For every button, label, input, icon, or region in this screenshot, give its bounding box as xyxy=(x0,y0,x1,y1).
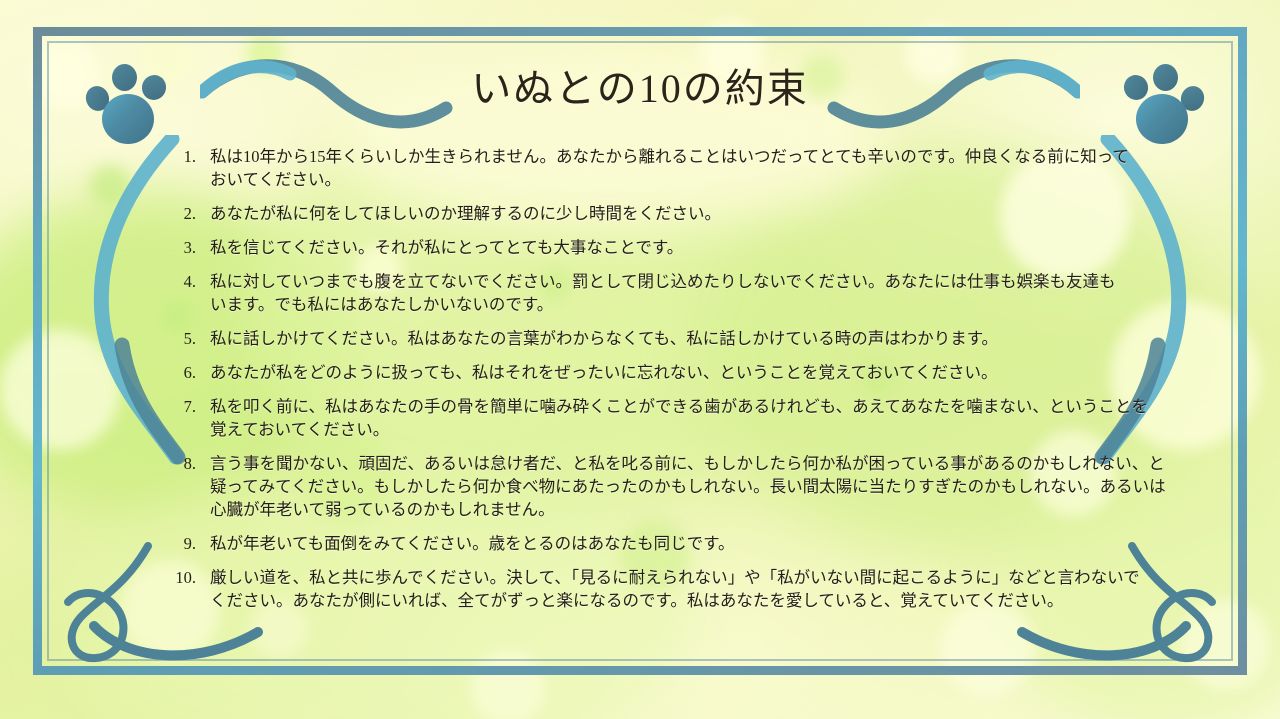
list-item-line: 言う事を聞かない、頑固だ、あるいは怠け者だ、と私を叱る前に、もしかしたら何か私が… xyxy=(210,452,1166,475)
list-item-text: 私に話しかけてください。私はあなたの言葉がわからなくても、私に話しかけている時の… xyxy=(210,327,1130,350)
list-item-number: 3. xyxy=(150,236,210,259)
list-item-number: 6. xyxy=(150,361,210,384)
list-item-line: 心臓が年老いて弱っているのかもしれません。 xyxy=(210,498,1166,521)
list-item-text: 私を叩く前に、私はあなたの手の骨を簡単に噛み砕くことができる歯があるけれども、あ… xyxy=(210,395,1148,441)
list-item-line: 疑ってみてください。もしかしたら何か食べ物にあたったのかもしれない。長い間太陽に… xyxy=(210,475,1166,498)
list-item: 10. 厳しい道を、私と共に歩んでください。決して、「見るに耐えられない」や「私… xyxy=(150,566,1130,612)
page-title: いぬとの10の約束 xyxy=(0,56,1280,114)
list-item-text: 私に対していつまでも腹を立てないでください。罰として閉じ込めたりしないでください… xyxy=(210,270,1130,316)
list-item: 9. 私が年老いても面倒をみてください。歳をとるのはあなたも同じです。 xyxy=(150,532,1130,555)
list-item-text: 言う事を聞かない、頑固だ、あるいは怠け者だ、と私を叱る前に、もしかしたら何か私が… xyxy=(210,452,1166,521)
list-item-line: あなたが私に何をしてほしいのか理解するのに少し時間をください。 xyxy=(210,202,1130,225)
list-item-line: 私を信じてください。それが私にとってとても大事なことです。 xyxy=(210,236,1130,259)
list-item-line: 私が年老いても面倒をみてください。歳をとるのはあなたも同じです。 xyxy=(210,532,1130,555)
list-item-number: 7. xyxy=(150,395,210,418)
list-item: 2. あなたが私に何をしてほしいのか理解するのに少し時間をください。 xyxy=(150,202,1130,225)
list-item-line: ください。あなたが側にいれば、全てがずっと楽になるのです。私はあなたを愛している… xyxy=(210,589,1140,612)
list-item-line: 私を叩く前に、私はあなたの手の骨を簡単に噛み砕くことができる歯があるけれども、あ… xyxy=(210,395,1148,418)
list-item-number: 9. xyxy=(150,532,210,555)
poster-canvas: いぬとの10の約束 1. 私は10年から15年くらいしか生きられません。あなたか… xyxy=(0,0,1280,719)
list-item-text: 私を信じてください。それが私にとってとても大事なことです。 xyxy=(210,236,1130,259)
list-item-line: います。でも私にはあなたしかいないのです。 xyxy=(210,293,1130,316)
promise-list: 1. 私は10年から15年くらいしか生きられません。あなたから離れることはいつだ… xyxy=(150,145,1130,623)
list-item-text: 厳しい道を、私と共に歩んでください。決して、「見るに耐えられない」や「私がいない… xyxy=(210,566,1140,612)
list-item-line: 私に話しかけてください。私はあなたの言葉がわからなくても、私に話しかけている時の… xyxy=(210,327,1130,350)
list-item-number: 4. xyxy=(150,270,210,293)
list-item: 8. 言う事を聞かない、頑固だ、あるいは怠け者だ、と私を叱る前に、もしかしたら何… xyxy=(150,452,1130,521)
list-item-text: 私は10年から15年くらいしか生きられません。あなたから離れることはいつだってと… xyxy=(210,145,1130,191)
list-item-line: あなたが私をどのように扱っても、私はそれをぜったいに忘れない、ということを覚えて… xyxy=(210,361,1130,384)
list-item-number: 5. xyxy=(150,327,210,350)
list-item-number: 10. xyxy=(150,566,210,589)
list-item: 4. 私に対していつまでも腹を立てないでください。罰として閉じ込めたりしないでく… xyxy=(150,270,1130,316)
list-item: 1. 私は10年から15年くらいしか生きられません。あなたから離れることはいつだ… xyxy=(150,145,1130,191)
list-item: 6. あなたが私をどのように扱っても、私はそれをぜったいに忘れない、ということを… xyxy=(150,361,1130,384)
list-item-text: 私が年老いても面倒をみてください。歳をとるのはあなたも同じです。 xyxy=(210,532,1130,555)
list-item-text: あなたが私をどのように扱っても、私はそれをぜったいに忘れない、ということを覚えて… xyxy=(210,361,1130,384)
list-item-number: 1. xyxy=(150,145,210,168)
list-item: 5. 私に話しかけてください。私はあなたの言葉がわからなくても、私に話しかけてい… xyxy=(150,327,1130,350)
list-item-line: おいてください。 xyxy=(210,168,1130,191)
list-item-text: あなたが私に何をしてほしいのか理解するのに少し時間をください。 xyxy=(210,202,1130,225)
list-item-line: 覚えておいてください。 xyxy=(210,418,1148,441)
list-item: 7. 私を叩く前に、私はあなたの手の骨を簡単に噛み砕くことができる歯があるけれど… xyxy=(150,395,1130,441)
list-item-line: 私は10年から15年くらいしか生きられません。あなたから離れることはいつだってと… xyxy=(210,145,1130,168)
list-item-line: 私に対していつまでも腹を立てないでください。罰として閉じ込めたりしないでください… xyxy=(210,270,1130,293)
list-item-number: 8. xyxy=(150,452,210,475)
list-item: 3. 私を信じてください。それが私にとってとても大事なことです。 xyxy=(150,236,1130,259)
list-item-number: 2. xyxy=(150,202,210,225)
list-item-line: 厳しい道を、私と共に歩んでください。決して、「見るに耐えられない」や「私がいない… xyxy=(210,566,1140,589)
